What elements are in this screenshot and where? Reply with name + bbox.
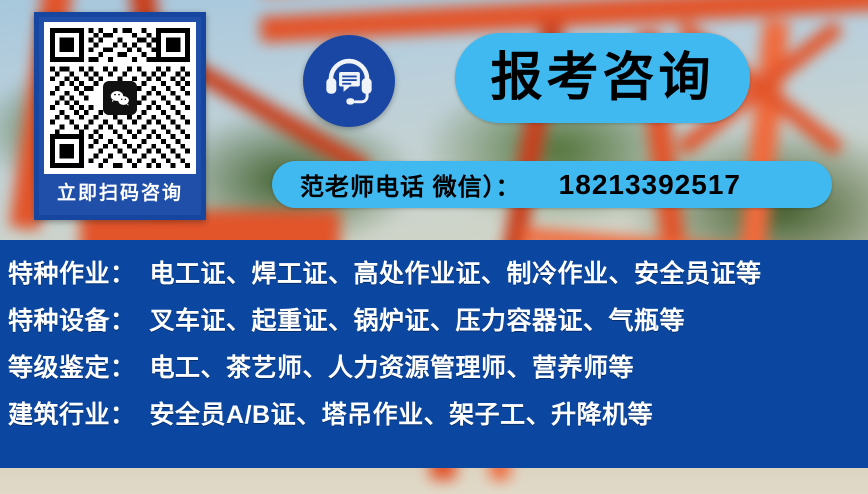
contact-phone-pill[interactable]: 范老师电话 微信）： 18213392517 [272, 161, 832, 208]
category-items: 安全员A/B证、塔吊作业、架子工、升降机等 [150, 395, 654, 431]
category-row: 特种作业： 电工证、焊工证、高处作业证、制冷作业、安全员证等 [0, 254, 868, 301]
headset-support-badge [303, 35, 395, 127]
category-label: 等级鉴定： [8, 348, 136, 384]
category-label: 特种设备： [8, 301, 136, 337]
consultation-title-text: 报考咨询 [490, 52, 714, 104]
qr-code-card[interactable]: 立即扫码咨询 [34, 12, 206, 220]
category-items: 电工证、焊工证、高处作业证、制冷作业、安全员证等 [150, 254, 762, 290]
wechat-icon-svg [108, 86, 132, 110]
contact-label: 范老师电话 微信）： [300, 167, 521, 202]
category-label: 特种作业： [8, 254, 136, 290]
qr-code-frame [44, 22, 196, 174]
category-items: 叉车证、起重证、锅炉证、压力容器证、气瓶等 [150, 301, 686, 337]
consultation-title-pill: 报考咨询 [455, 33, 750, 123]
qr-caption: 立即扫码咨询 [39, 184, 201, 203]
headset-support-icon [320, 52, 378, 110]
category-row: 建筑行业： 安全员A/B证、塔吊作业、架子工、升降机等 [0, 395, 868, 442]
category-row: 特种设备： 叉车证、起重证、锅炉证、压力容器证、气瓶等 [0, 301, 868, 348]
qr-code-image [50, 28, 190, 168]
contact-phone-number[interactable]: 18213392517 [559, 169, 741, 201]
wechat-icon [103, 81, 137, 115]
category-items: 电工、茶艺师、人力资源管理师、营养师等 [150, 348, 635, 384]
category-label: 建筑行业： [8, 395, 136, 431]
category-row: 等级鉴定： 电工、茶艺师、人力资源管理师、营养师等 [0, 348, 868, 395]
certificate-rows: 特种作业： 电工证、焊工证、高处作业证、制冷作业、安全员证等 特种设备： 叉车证… [0, 240, 868, 442]
advertisement-banner: 立即扫码咨询 报考咨询 范老师电话 微信）： 18213392517 特种作业： [0, 0, 868, 494]
certificate-categories-panel: 特种作业： 电工证、焊工证、高处作业证、制冷作业、安全员证等 特种设备： 叉车证… [0, 240, 868, 468]
